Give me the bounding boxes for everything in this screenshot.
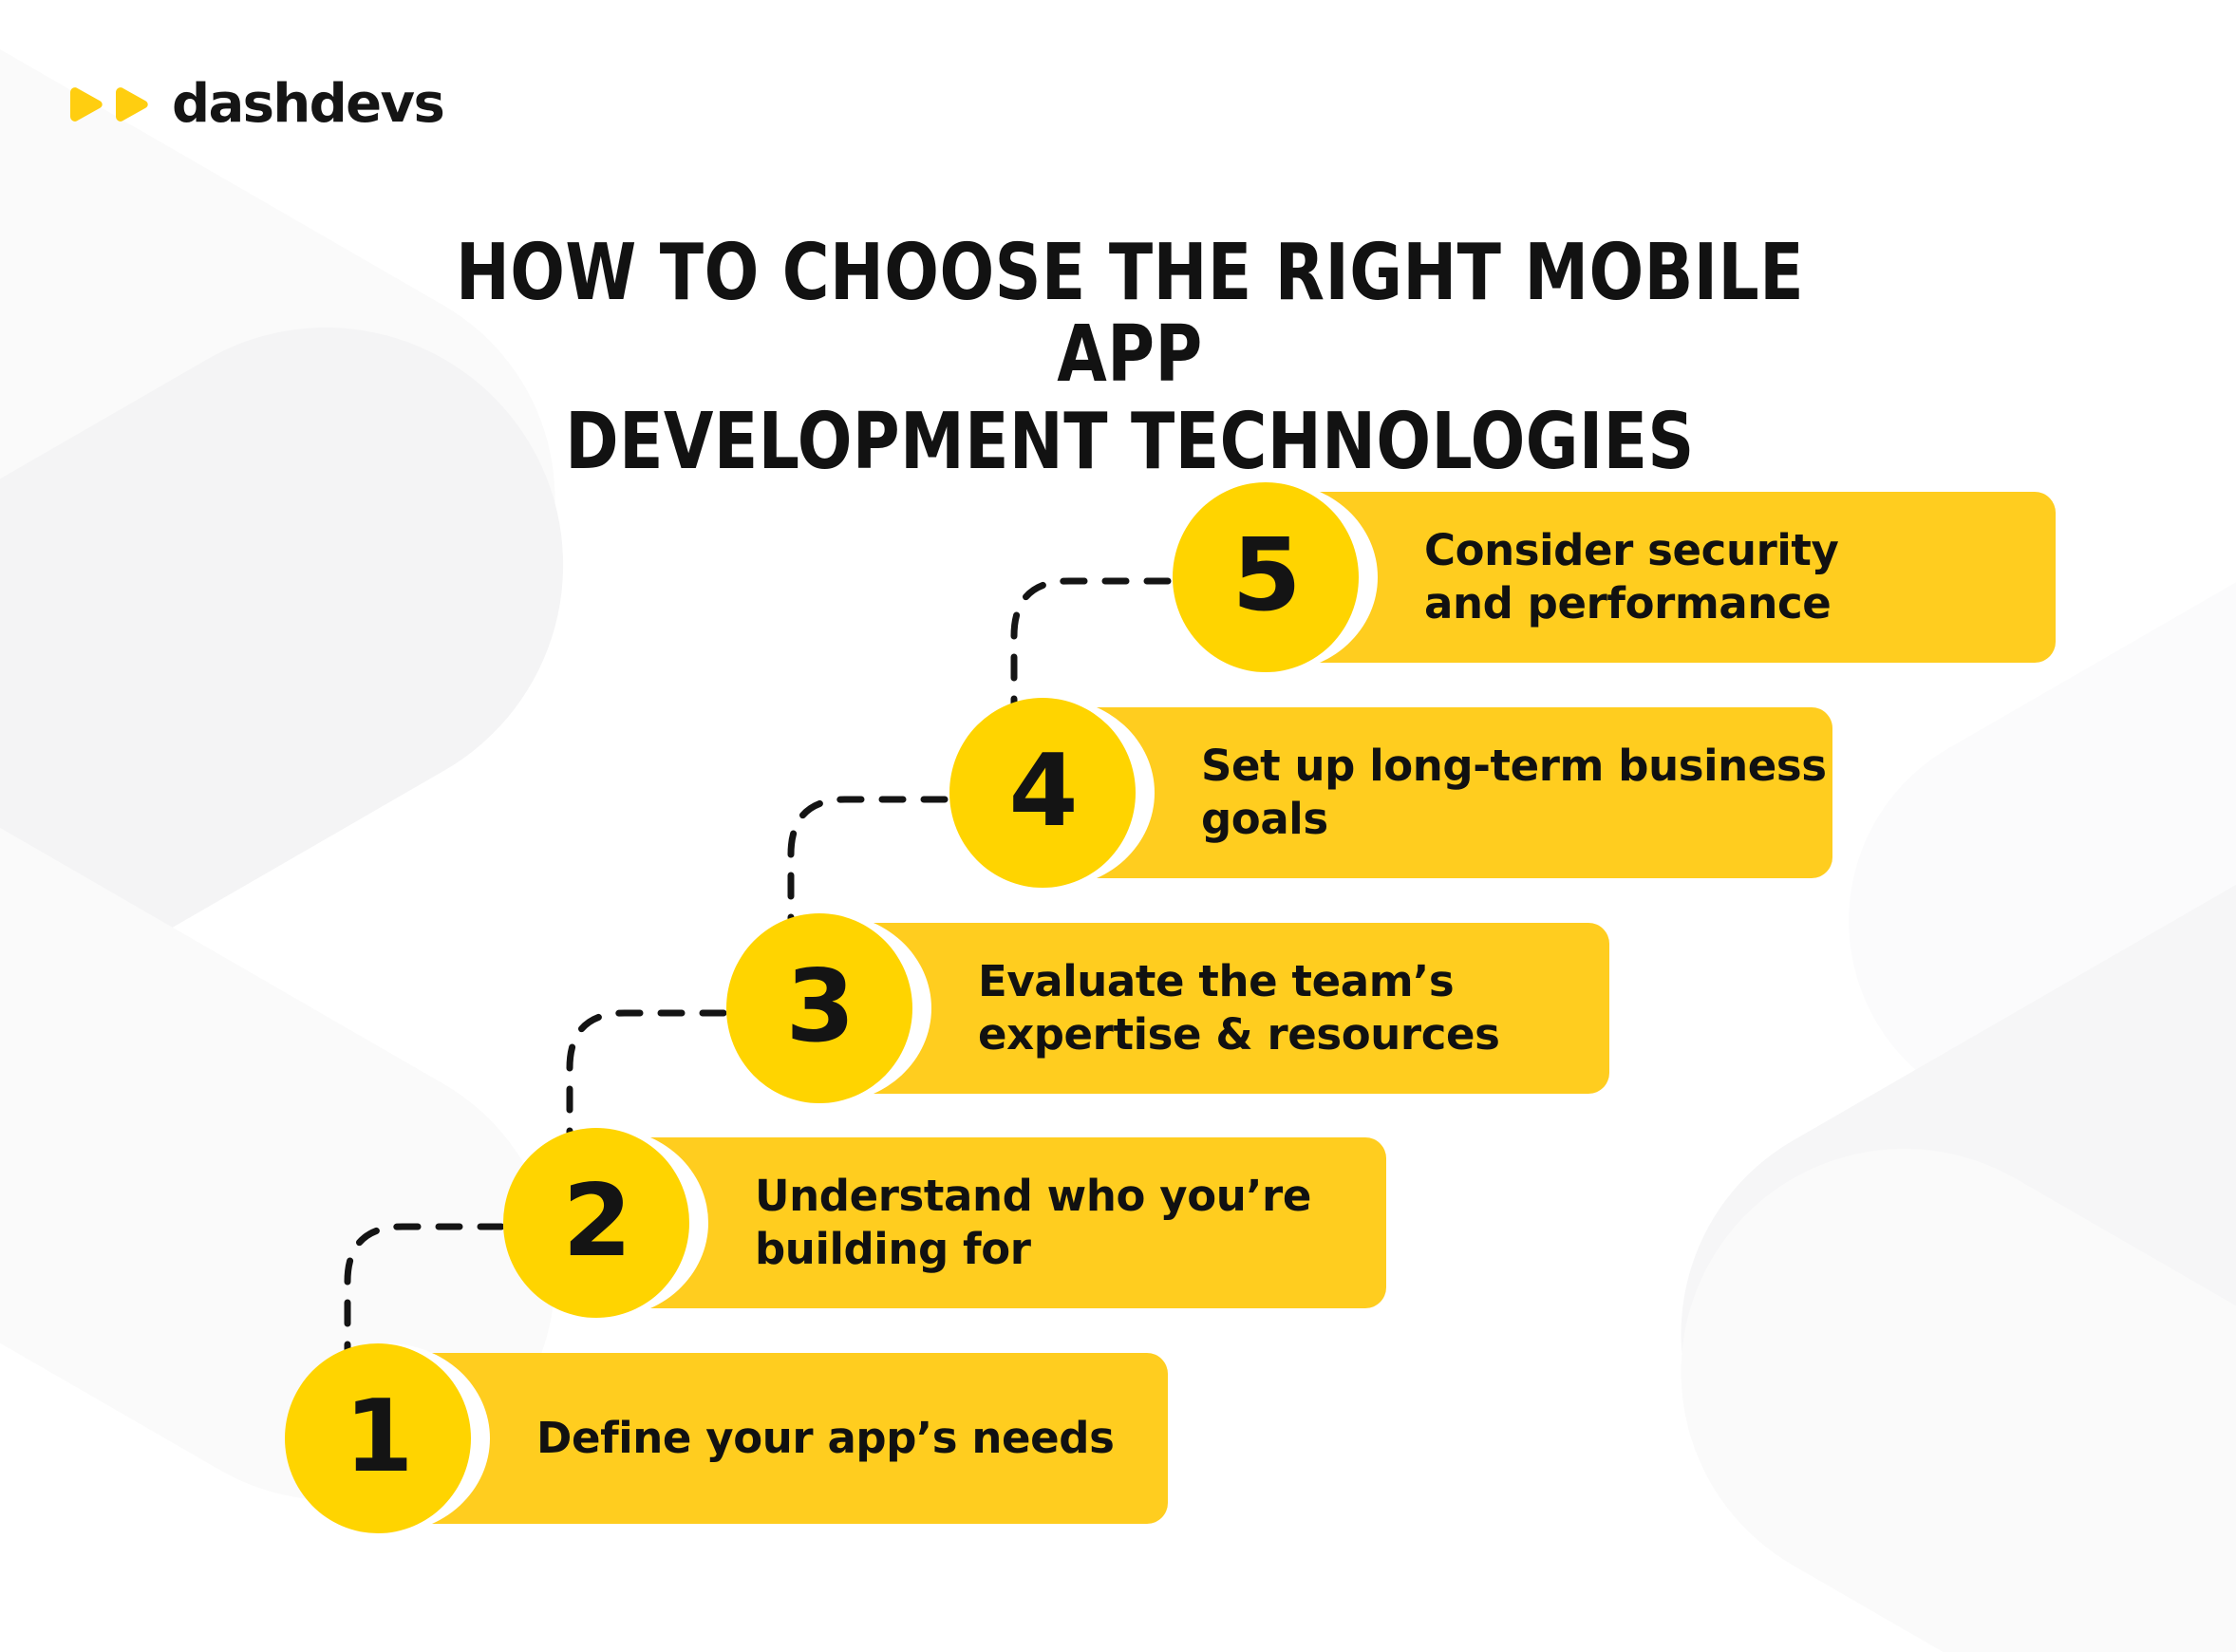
infographic-canvas: dashdevs HOW TO CHOOSE THE RIGHT MOBILE … bbox=[0, 0, 2236, 1652]
page-title-line-2: DEVELOPMENT TECHNOLOGIES bbox=[379, 402, 1881, 483]
step-badge-5[interactable]: 5 bbox=[1173, 482, 1378, 672]
step-bar-4: Set up long-term business goals bbox=[1049, 707, 1832, 878]
step-bar-5: Consider security and performance bbox=[1272, 492, 2056, 663]
step-label-1: Define your app’s needs bbox=[536, 1412, 1114, 1465]
double-play-triangle-icon bbox=[66, 86, 149, 122]
step-badge-circle-1: 1 bbox=[285, 1343, 471, 1533]
step-label-5: Consider security and performance bbox=[1424, 524, 1838, 630]
step-label-4: Set up long-term business goals bbox=[1201, 740, 1827, 846]
page-title-line-1: HOW TO CHOOSE THE RIGHT MOBILE APP bbox=[379, 233, 1881, 396]
step-item-1[interactable]: Define your app’s needs 1 bbox=[285, 1343, 1168, 1533]
step-bar-1: Define your app’s needs bbox=[385, 1353, 1168, 1524]
step-number-4: 4 bbox=[1008, 742, 1076, 841]
step-badge-4[interactable]: 4 bbox=[949, 698, 1155, 888]
brand-name: dashdevs bbox=[172, 78, 443, 131]
step-number-5: 5 bbox=[1231, 526, 1299, 626]
step-item-4[interactable]: Set up long-term business goals 4 bbox=[949, 698, 1832, 888]
step-badge-2[interactable]: 2 bbox=[503, 1128, 708, 1318]
step-badge-3[interactable]: 3 bbox=[726, 913, 931, 1103]
step-item-5[interactable]: Consider security and performance 5 bbox=[1173, 482, 2056, 672]
step-number-2: 2 bbox=[562, 1172, 629, 1271]
step-label-2: Understand who you’re building for bbox=[755, 1170, 1311, 1276]
step-item-3[interactable]: Evaluate the team’s expertise & resource… bbox=[726, 913, 1609, 1103]
step-badge-circle-2: 2 bbox=[503, 1128, 689, 1318]
step-badge-1[interactable]: 1 bbox=[285, 1343, 490, 1533]
step-bar-2: Understand who you’re building for bbox=[603, 1137, 1386, 1308]
step-bar-3: Evaluate the team’s expertise & resource… bbox=[826, 923, 1609, 1094]
step-number-1: 1 bbox=[344, 1387, 411, 1487]
step-number-3: 3 bbox=[785, 957, 853, 1057]
step-item-2[interactable]: Understand who you’re building for 2 bbox=[503, 1128, 1386, 1318]
step-badge-circle-5: 5 bbox=[1173, 482, 1359, 672]
step-badge-circle-4: 4 bbox=[949, 698, 1136, 888]
step-badge-circle-3: 3 bbox=[726, 913, 912, 1103]
step-label-3: Evaluate the team’s expertise & resource… bbox=[978, 955, 1500, 1061]
page-title: HOW TO CHOOSE THE RIGHT MOBILE APP DEVEL… bbox=[379, 233, 1881, 483]
brand-logo[interactable]: dashdevs bbox=[66, 78, 443, 131]
